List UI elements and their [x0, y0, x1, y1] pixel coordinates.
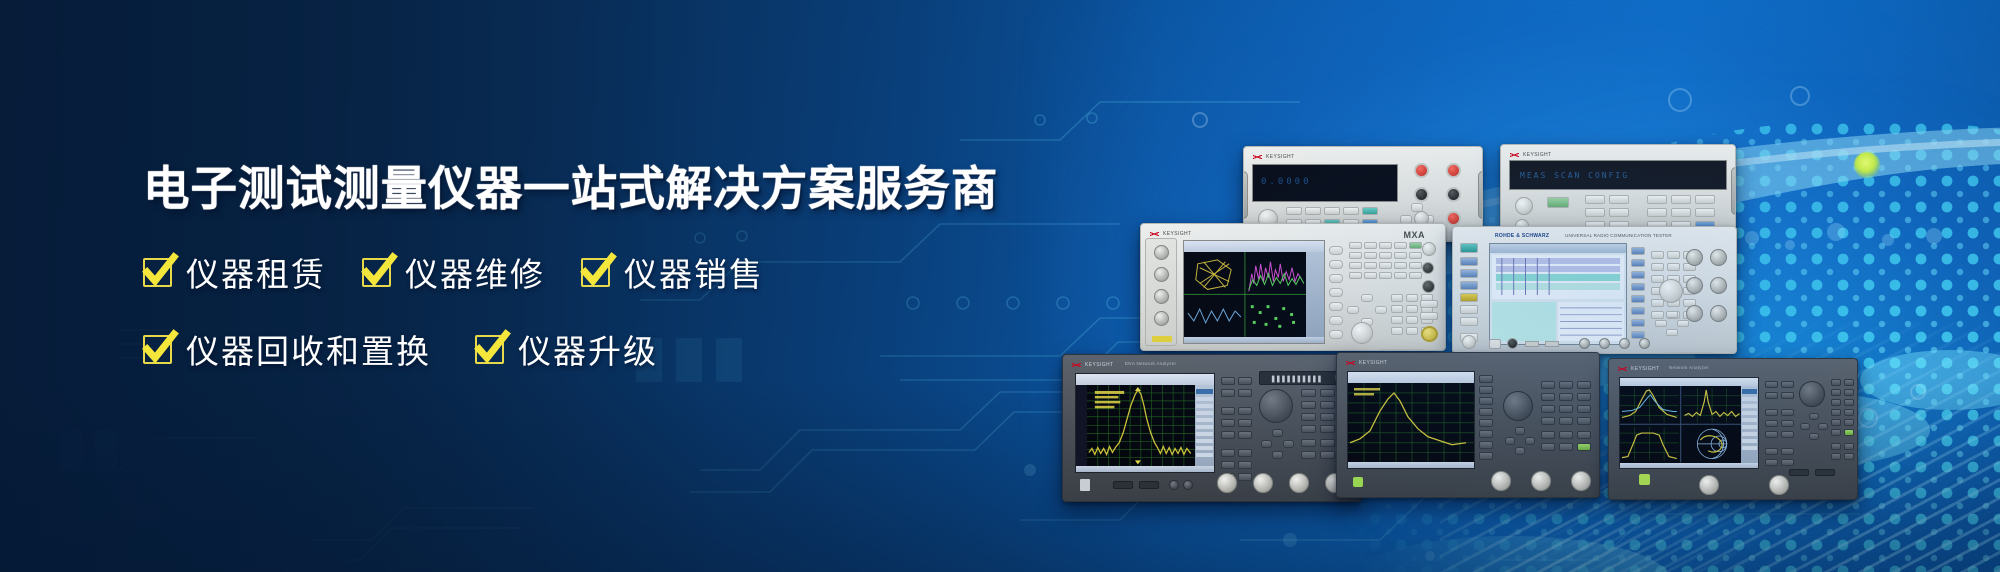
- model-label: Network Analyzer: [1669, 365, 1709, 370]
- page-title: 电子测试测量仪器一站式解决方案服务商: [143, 166, 895, 213]
- usb-ports: [1113, 481, 1193, 491]
- instrument-foot: [1666, 352, 1714, 354]
- brand-label: KEYSIGHT: [1618, 365, 1659, 373]
- control-knob: [1659, 279, 1683, 303]
- display-titlebar: [1348, 372, 1474, 383]
- instrument-handle: [1478, 171, 1483, 219]
- instrument-display: [1489, 243, 1627, 345]
- left-key-column: [1457, 241, 1483, 351]
- display-statusbar: [1184, 337, 1324, 343]
- control-knob: [1503, 391, 1533, 421]
- brand-label: KEYSIGHT: [1253, 153, 1294, 161]
- feature-label: 仪器租赁: [186, 248, 326, 296]
- power-indicator: [1353, 477, 1363, 487]
- power-indicator: [1080, 479, 1090, 491]
- feature-item-sales[interactable]: 仪器销售: [581, 248, 764, 296]
- active-channel-keys: [1765, 377, 1795, 477]
- keysight-logo-icon: [1618, 365, 1627, 373]
- display-softkeys: [1195, 385, 1214, 466]
- feature-row-2: 仪器回收和置换 仪器升级: [143, 325, 903, 373]
- model-label: UNIVERSAL RADIO COMMUNICATION TESTER: [1565, 233, 1672, 238]
- navigation-pad: [1800, 413, 1828, 441]
- feature-label: 仪器维修: [405, 248, 545, 296]
- instrument-display: [1183, 240, 1325, 344]
- instrument-display: MEAS SCAN CONFIG: [1509, 160, 1727, 190]
- feature-label: 仪器销售: [624, 248, 764, 296]
- control-knob: [1351, 322, 1373, 344]
- function-button: [1547, 197, 1569, 208]
- feature-list: 仪器租赁 仪器维修: [143, 248, 903, 373]
- instrument-foot: [1357, 496, 1403, 498]
- softkey-rail: [1479, 375, 1493, 465]
- instrument-display: [1075, 373, 1215, 473]
- instrument-foot: [1161, 349, 1207, 351]
- status-led-strip: [1259, 371, 1343, 385]
- keysight-logo-icon: [1346, 359, 1355, 367]
- checkbox-checked-icon: [362, 258, 391, 287]
- checkbox-checked-icon: [581, 258, 610, 287]
- brand-label: KEYSIGHT: [1150, 230, 1191, 238]
- promo-banner: KEYSIGHT 0.0000: [0, 0, 2000, 572]
- keysight-logo-icon: [1253, 153, 1262, 161]
- instrument-display: 0.0000: [1252, 164, 1398, 202]
- instrument-network-analyzer-b: KEYSIGHT: [1336, 352, 1600, 498]
- display-plot-area: [1087, 385, 1195, 466]
- feature-label: 仪器升级: [518, 325, 658, 373]
- display-plot-area: [1184, 252, 1306, 337]
- keysight-logo-icon: [1150, 230, 1159, 238]
- keysight-logo-icon: [1072, 361, 1081, 369]
- checkbox-checked-icon: [143, 335, 172, 364]
- keysight-logo-icon: [1510, 151, 1519, 159]
- feature-label: 仪器回收和置换: [186, 325, 431, 373]
- instrument-signal-analyzer-mxa: KEYSIGHT MXA: [1140, 223, 1446, 351]
- rf-output-ports: [1419, 240, 1441, 346]
- feature-item-buyback-tradein[interactable]: 仪器回收和置换: [143, 325, 431, 373]
- display-plot-area: [1348, 383, 1474, 463]
- instrument-radio-comm-tester: ROHDE & SCHWARZ UNIVERSAL RADIO COMMUNIC…: [1452, 226, 1737, 354]
- display-statusbar: [1076, 466, 1214, 472]
- instrument-foot: [1289, 500, 1339, 502]
- display-softkeys: [1741, 386, 1758, 463]
- brand-label: ROHDE & SCHWARZ: [1495, 233, 1549, 239]
- instrument-network-analyzer-a: KEYSIGHT ENA Network Analyzer: [1062, 354, 1362, 502]
- rf-test-ports: [1487, 471, 1597, 493]
- control-knob: [1515, 197, 1533, 215]
- instrument-handle: [1731, 167, 1736, 215]
- display-plot-area: [1620, 386, 1741, 463]
- feature-item-repair[interactable]: 仪器维修: [362, 248, 545, 296]
- instrument-foot: [1793, 498, 1837, 500]
- display-statusbar: [1348, 462, 1474, 468]
- instrument-network-analyzer-c: KEYSIGHT Network Analyzer: [1608, 358, 1858, 500]
- navigation-pad: [1505, 427, 1535, 457]
- instrument-foot: [1533, 496, 1579, 498]
- display-softkeys: [1306, 252, 1324, 337]
- model-label: MXA: [1404, 230, 1426, 240]
- softkey-rail: [1329, 246, 1343, 338]
- checkbox-checked-icon: [475, 335, 504, 364]
- control-knob: [1259, 389, 1293, 423]
- display-statusbar: [1620, 463, 1758, 468]
- control-knob: [1799, 381, 1825, 407]
- numeric-keypad: [1541, 381, 1591, 457]
- instrument-display: [1347, 371, 1475, 469]
- instrument-handle: [1243, 171, 1248, 219]
- display-titlebar: [1620, 378, 1758, 386]
- instrument-foot: [1085, 500, 1135, 502]
- rf-input-column: [1145, 238, 1177, 346]
- feature-row-1: 仪器租赁 仪器维修: [143, 248, 903, 296]
- display-titlebar: [1184, 241, 1324, 252]
- instrument-display: [1619, 377, 1759, 469]
- rf-test-ports: [1215, 473, 1355, 495]
- instrument-foot: [1379, 349, 1425, 351]
- instrument-foot: [1629, 498, 1673, 500]
- navigation-pad: [1261, 429, 1293, 461]
- brand-label: KEYSIGHT: [1072, 361, 1113, 369]
- bottom-connector-strip: [1489, 338, 1679, 350]
- keypad: [1349, 242, 1423, 288]
- banner-copy: 电子测试测量仪器一站式解决方案服务商 仪器租赁: [143, 166, 903, 373]
- model-label: ENA Network Analyzer: [1125, 361, 1176, 366]
- numeric-keypad: [1831, 379, 1855, 467]
- feature-item-rental[interactable]: 仪器租赁: [143, 248, 326, 296]
- softkey-rail: [1631, 247, 1645, 343]
- rf-test-ports: [1699, 475, 1795, 497]
- feature-item-upgrade[interactable]: 仪器升级: [475, 325, 658, 373]
- active-channel-keys: [1221, 373, 1253, 485]
- rf-connectors: [1684, 247, 1732, 337]
- power-indicator: [1639, 474, 1650, 485]
- brand-label: KEYSIGHT: [1346, 359, 1387, 367]
- checkbox-checked-icon: [143, 258, 172, 287]
- instrument-bench-multimeter-right: KEYSIGHT MEAS SCAN CONFIG: [1500, 144, 1736, 238]
- display-titlebar: [1076, 374, 1214, 385]
- brand-label: KEYSIGHT: [1510, 151, 1551, 159]
- usb-ports: [1789, 469, 1839, 477]
